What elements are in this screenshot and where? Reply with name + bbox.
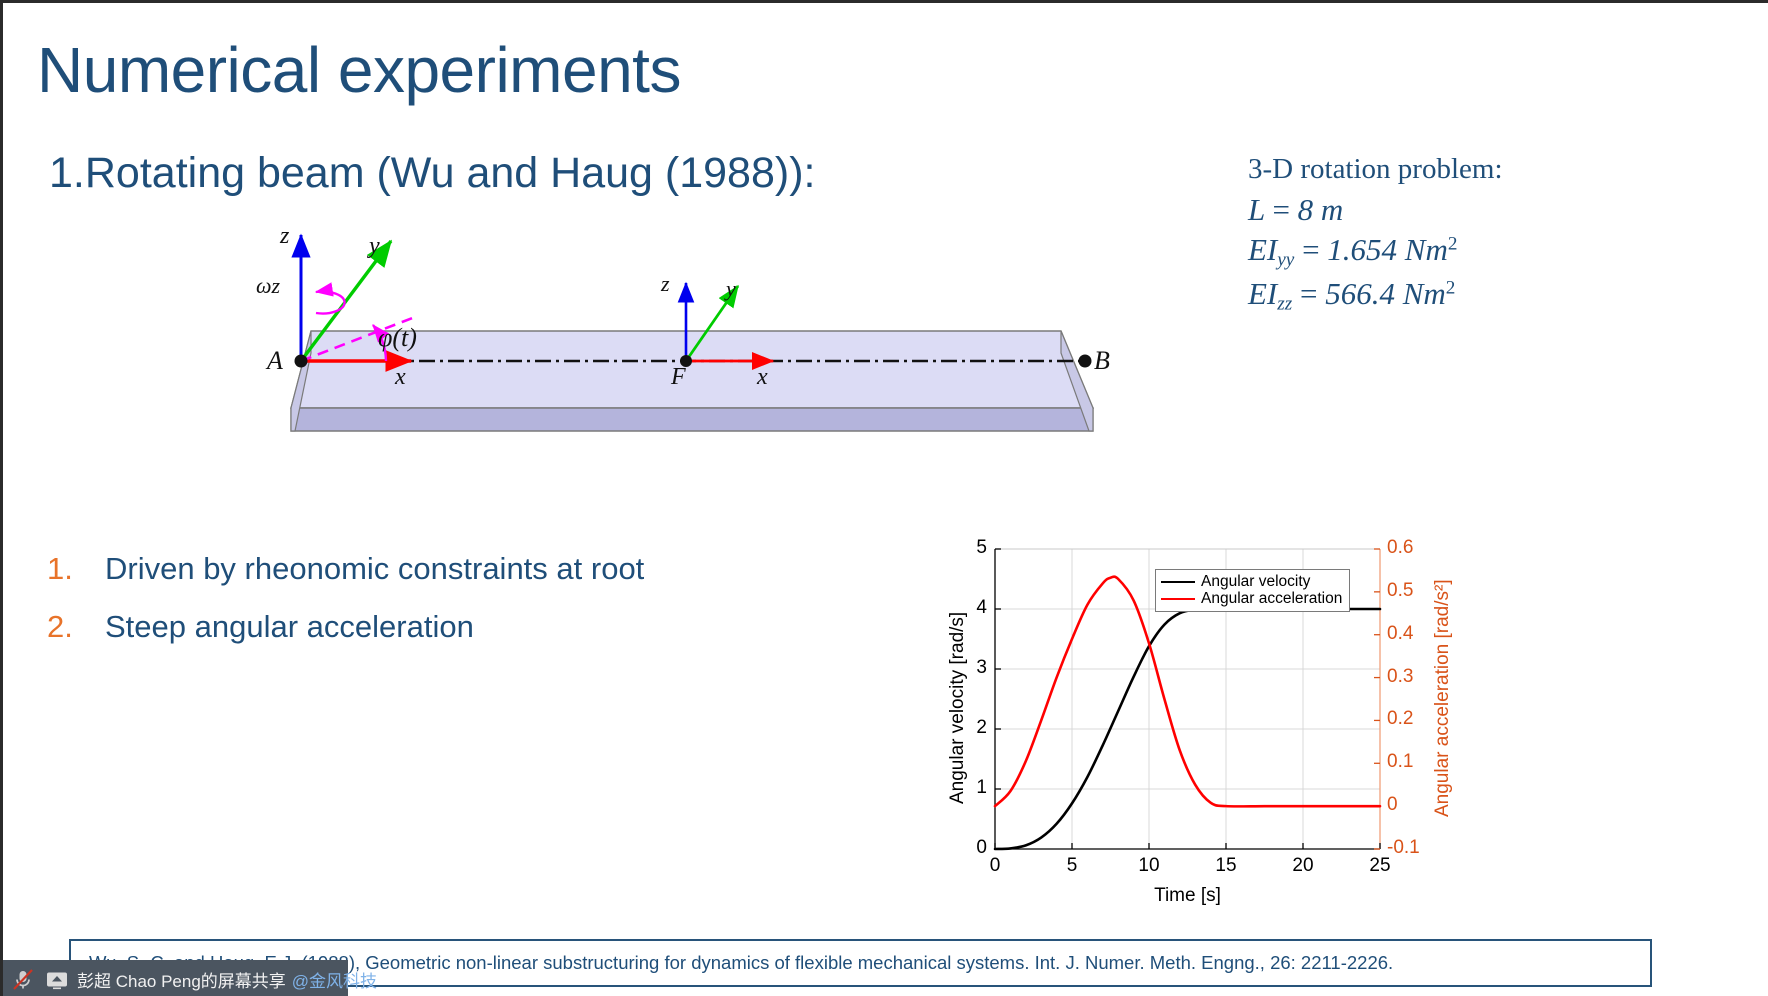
equation-ei-zz-lhs: EI <box>1248 276 1277 311</box>
microphone-muted-icon[interactable] <box>9 967 37 993</box>
equation-ei-zz-rhs: 566.4 Nm <box>1325 276 1446 311</box>
chart-y-tick: 4 <box>943 597 987 619</box>
equation-equals: = <box>1300 276 1325 311</box>
equation-length-rhs: 8 m <box>1298 192 1344 227</box>
screen-share-bar: 彭超 Chao Peng的屏幕共享 @金风科技 <box>3 960 348 996</box>
share-owner-label: 彭超 Chao Peng的屏幕共享 <box>77 967 286 992</box>
chart-y2-tick: 0.5 <box>1387 580 1413 602</box>
rotating-beam-diagram: z y x ωz φ(t) A z y x F B <box>243 213 1143 443</box>
screen-share-icon[interactable] <box>43 967 71 993</box>
beam-front-face <box>291 408 1093 431</box>
list-item-label: Driven by rheonomic constraints at root <box>105 551 644 587</box>
angular-motion-chart: Angular velocity [rad/s] Angular acceler… <box>933 531 1443 931</box>
equation-length: L = 8 m <box>1248 190 1503 230</box>
chart-legend: Angular velocity Angular acceleration <box>1155 569 1350 612</box>
legend-entry-velocity: Angular velocity <box>1161 573 1342 590</box>
list-item: 2. Steep angular acceleration <box>47 609 644 645</box>
equations-panel: 3-D rotation problem: L = 8 m EIyy = 1.6… <box>1248 153 1503 317</box>
bullet-list: 1. Driven by rheonomic constraints at ro… <box>47 551 644 667</box>
equation-ei-yy: EIyy = 1.654 Nm2 <box>1248 230 1503 273</box>
chart-y2-tick: 0.1 <box>1387 751 1413 773</box>
list-item-number: 1. <box>47 551 105 587</box>
node-b-label: B <box>1094 346 1110 376</box>
equation-equals: = <box>1302 232 1327 267</box>
node-a <box>295 355 308 368</box>
legend-label-velocity: Angular velocity <box>1201 573 1310 591</box>
equation-ei-zz-sup: 2 <box>1446 277 1456 298</box>
section-heading: 1.Rotating beam (Wu and Haug (1988)): <box>49 149 815 198</box>
chart-y2-axis-label: Angular acceleration [rad/s²] <box>1432 579 1454 817</box>
chart-x-tick: 25 <box>1355 855 1405 877</box>
root-x-axis-label: x <box>395 364 406 391</box>
chart-x-tick: 15 <box>1201 855 1251 877</box>
equations-heading: 3-D rotation problem: <box>1248 153 1503 186</box>
list-item: 1. Driven by rheonomic constraints at ro… <box>47 551 644 587</box>
omega-z-label: ωz <box>256 273 280 299</box>
chart-y-tick: 1 <box>943 777 987 799</box>
equation-ei-zz: EIzz = 566.4 Nm2 <box>1248 274 1503 317</box>
node-f-label: F <box>671 364 686 391</box>
float-z-axis-label: z <box>661 271 670 297</box>
presentation-slide: Numerical experiments 1.Rotating beam (W… <box>0 0 1768 996</box>
equation-ei-yy-rhs: 1.654 Nm <box>1327 232 1448 267</box>
chart-x-tick: 20 <box>1278 855 1328 877</box>
float-x-axis-label: x <box>757 364 768 391</box>
omega-z-arrow <box>316 292 345 314</box>
legend-swatch-acceleration <box>1161 598 1195 600</box>
chart-y2-tick: 0 <box>1387 794 1398 816</box>
list-item-label: Steep angular acceleration <box>105 609 474 645</box>
chart-y-tick: 5 <box>943 537 987 559</box>
equation-ei-yy-sub: yy <box>1277 250 1294 271</box>
equation-ei-zz-sub: zz <box>1277 293 1292 314</box>
chart-x-tick: 10 <box>1124 855 1174 877</box>
chart-y2-tick: 0.4 <box>1387 623 1413 645</box>
root-z-axis-label: z <box>280 223 289 250</box>
equation-ei-yy-lhs: EI <box>1248 232 1277 267</box>
chart-y-axis-label: Angular velocity [rad/s] <box>947 612 969 804</box>
chart-y-tick: 2 <box>943 717 987 739</box>
page-title: Numerical experiments <box>37 33 681 107</box>
chart-y2-tick: 0.2 <box>1387 708 1413 730</box>
root-y-axis-label: y <box>369 233 380 260</box>
list-item-number: 2. <box>47 609 105 645</box>
chart-y-tick: 3 <box>943 657 987 679</box>
node-b <box>1079 355 1092 368</box>
equation-length-lhs: L <box>1248 192 1265 227</box>
legend-swatch-velocity <box>1161 581 1195 583</box>
share-tag-label: @金风科技 <box>292 967 377 992</box>
legend-entry-acceleration: Angular acceleration <box>1161 590 1342 607</box>
legend-label-acceleration: Angular acceleration <box>1201 590 1342 608</box>
node-a-label: A <box>267 346 283 376</box>
chart-x-tick: 0 <box>970 855 1020 877</box>
phi-label: φ(t) <box>378 323 417 353</box>
equation-equals: = <box>1272 192 1297 227</box>
chart-y2-tick: 0.6 <box>1387 537 1413 559</box>
chart-y2-tick: 0.3 <box>1387 666 1413 688</box>
chart-x-axis-label: Time [s] <box>1038 885 1338 907</box>
equation-ei-yy-sup: 2 <box>1448 234 1458 255</box>
chart-x-tick: 5 <box>1047 855 1097 877</box>
float-y-axis-label: y <box>726 276 736 302</box>
